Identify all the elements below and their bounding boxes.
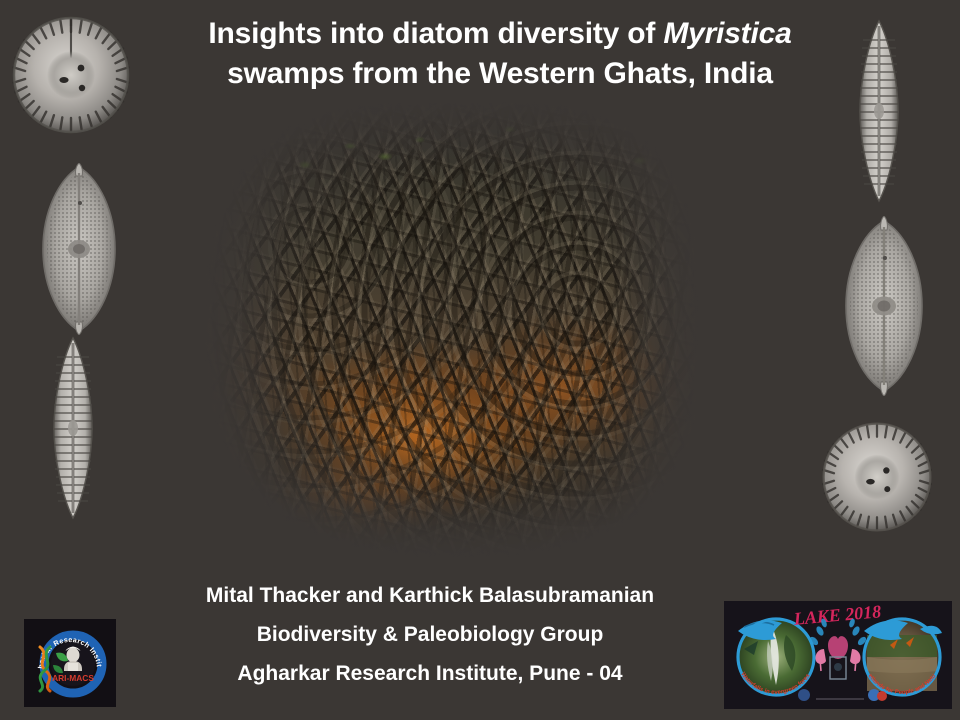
title-line-2: swamps from the Western Ghats, India [150, 54, 850, 94]
title-species-name: Myristica [663, 17, 791, 50]
ari-acronym: ARI-MACS [52, 673, 94, 683]
diatom-centric-top-left [8, 12, 134, 138]
title-line-1-text: Insights into diatom diversity of [208, 17, 663, 50]
presentation-title-slide: Insights into diatom diversity of Myrist… [0, 0, 960, 720]
institute-name: Agharkar Research Institute, Pune - 04 [130, 663, 730, 684]
agharkar-research-institute-logo: Agharkar Research Institute ARI-MACS [24, 619, 116, 707]
diatom-centric-bottom-right [818, 418, 936, 536]
diatom-pennate-narrow-right [848, 18, 910, 204]
diatom-pennate-elliptic-right [836, 216, 932, 396]
diatom-pennate-narrow-left [42, 335, 104, 521]
photo-vignette [200, 100, 700, 565]
author-affiliation-block: Mital Thacker and Karthick Balasubramani… [130, 585, 730, 684]
title-line-1: Insights into diatom diversity of Myrist… [150, 14, 850, 54]
myristica-swamp-photograph [200, 100, 700, 565]
slide-title: Insights into diatom diversity of Myrist… [150, 14, 850, 93]
diatom-pennate-elliptic-left [33, 163, 125, 335]
research-group: Biodiversity & Paleobiology Group [130, 624, 730, 645]
lake-2018-conference-banner: Waterfalls in evergreen forest Wetlands … [724, 601, 952, 709]
author-names: Mital Thacker and Karthick Balasubramani… [130, 585, 730, 606]
